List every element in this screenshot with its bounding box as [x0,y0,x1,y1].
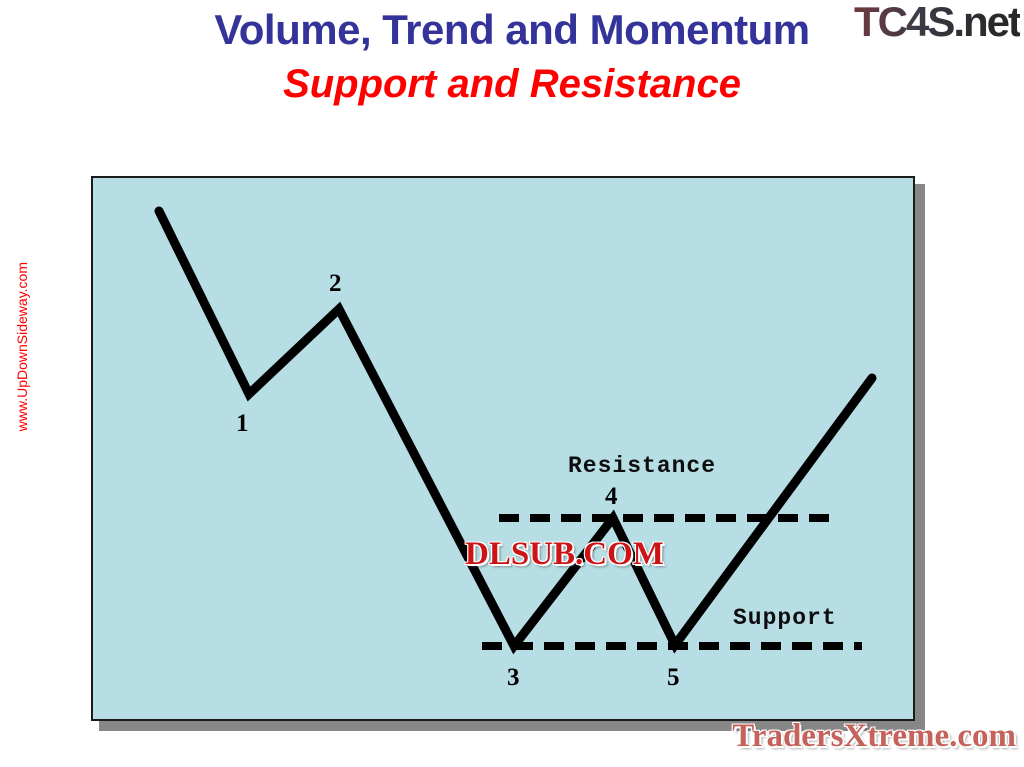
pivot-label-1: 1 [236,411,249,436]
pivot-label-2: 2 [329,271,342,296]
side-url-watermark: www.UpDownSideway.com [14,262,30,431]
support-label: Support [733,607,837,630]
dlsub-watermark: DLSUB.COM [465,536,664,573]
resistance-label: Resistance [568,455,716,478]
pivot-label-3: 3 [507,665,520,690]
tradersxtreme-watermark: TradersXtreme.com [732,718,1016,755]
pivot-label-4: 4 [605,484,618,509]
chart-panel: 1 2 3 4 5 Resistance Support DLSUB.COM [91,176,915,721]
price-chart-svg [93,178,915,721]
pivot-label-5: 5 [667,665,680,690]
price-line [159,211,872,646]
tc4s-watermark: TC4S.net [854,0,1020,46]
page-subtitle: Support and Resistance [0,62,1024,106]
